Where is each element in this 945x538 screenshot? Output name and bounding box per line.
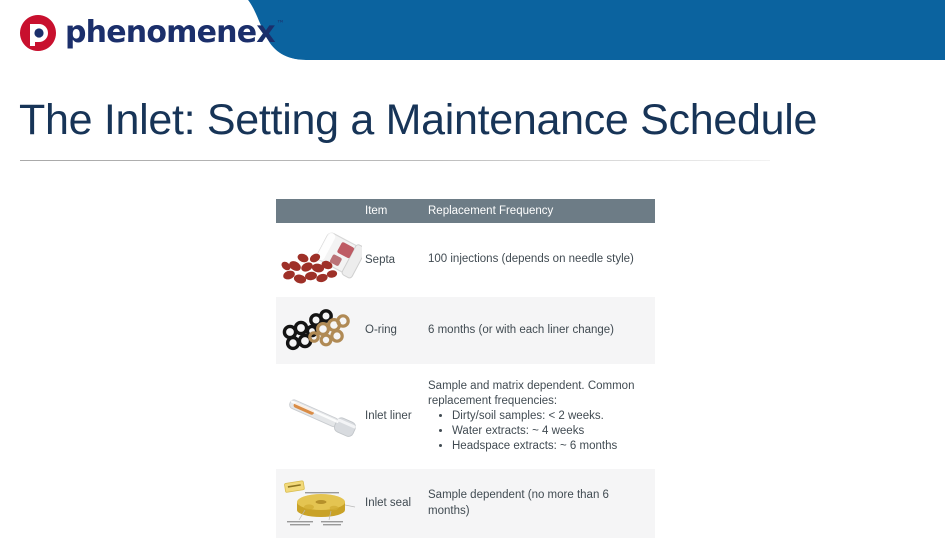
- frequency-cell: 6 months (or with each liner change): [420, 297, 655, 364]
- frequency-text: Sample and matrix dependent. Common repl…: [428, 379, 649, 409]
- column-header-item: Item: [365, 199, 420, 223]
- list-item: Headspace extracts: ~ 6 months: [452, 439, 649, 454]
- inlet-liner-image-cell: [276, 364, 365, 469]
- frequency-cell: Sample dependent (no more than 6 months): [420, 469, 655, 538]
- item-name: Inlet seal: [365, 469, 420, 538]
- table-header: Item Replacement Frequency: [276, 199, 655, 223]
- item-name: Inlet liner: [365, 364, 420, 469]
- phenomenex-mark-icon: [18, 13, 58, 53]
- frequency-text: 100 injections (depends on needle style): [428, 252, 649, 267]
- table-body: Septa 100 injections (depends on needle …: [276, 223, 655, 538]
- title-divider: [20, 160, 770, 161]
- list-item: Dirty/soil samples: < 2 weeks.: [452, 409, 649, 424]
- logo-wordmark: phenomenex ™: [65, 18, 275, 48]
- maintenance-schedule-table: Item Replacement Frequency: [276, 199, 655, 538]
- logo-wordmark-text: phenomenex: [65, 15, 275, 50]
- inlet-liner-image: [279, 389, 363, 445]
- o-ring-image-cell: [276, 297, 365, 364]
- frequency-cell: Sample and matrix dependent. Common repl…: [420, 364, 655, 469]
- list-item: Water extracts: ~ 4 weeks: [452, 424, 649, 439]
- septa-image-cell: [276, 223, 365, 297]
- frequency-bullet-list: Dirty/soil samples: < 2 weeks. Water ext…: [428, 409, 649, 455]
- inlet-seal-image-cell: [276, 469, 365, 538]
- septa-jar-image: [280, 232, 362, 288]
- frequency-text: Sample dependent (no more than 6 months): [428, 488, 649, 518]
- item-name: Septa: [365, 223, 420, 297]
- o-rings-image: [280, 306, 362, 356]
- table-row: Inlet liner Sample and matrix dependent.…: [276, 364, 655, 469]
- table-row: Septa 100 injections (depends on needle …: [276, 223, 655, 297]
- column-header-image: [276, 199, 365, 223]
- phenomenex-logo: phenomenex ™: [18, 12, 275, 54]
- table-row: O-ring 6 months (or with each liner chan…: [276, 297, 655, 364]
- item-name: O-ring: [365, 297, 420, 364]
- frequency-text: 6 months (or with each liner change): [428, 323, 649, 338]
- column-header-frequency: Replacement Frequency: [420, 199, 655, 223]
- frequency-cell: 100 injections (depends on needle style): [420, 223, 655, 297]
- inlet-seal-image: [279, 478, 363, 530]
- trademark-symbol: ™: [277, 20, 284, 28]
- table-header-row: Item Replacement Frequency: [276, 199, 655, 223]
- page-title: The Inlet: Setting a Maintenance Schedul…: [19, 97, 817, 144]
- table-row: Inlet seal Sample dependent (no more tha…: [276, 469, 655, 538]
